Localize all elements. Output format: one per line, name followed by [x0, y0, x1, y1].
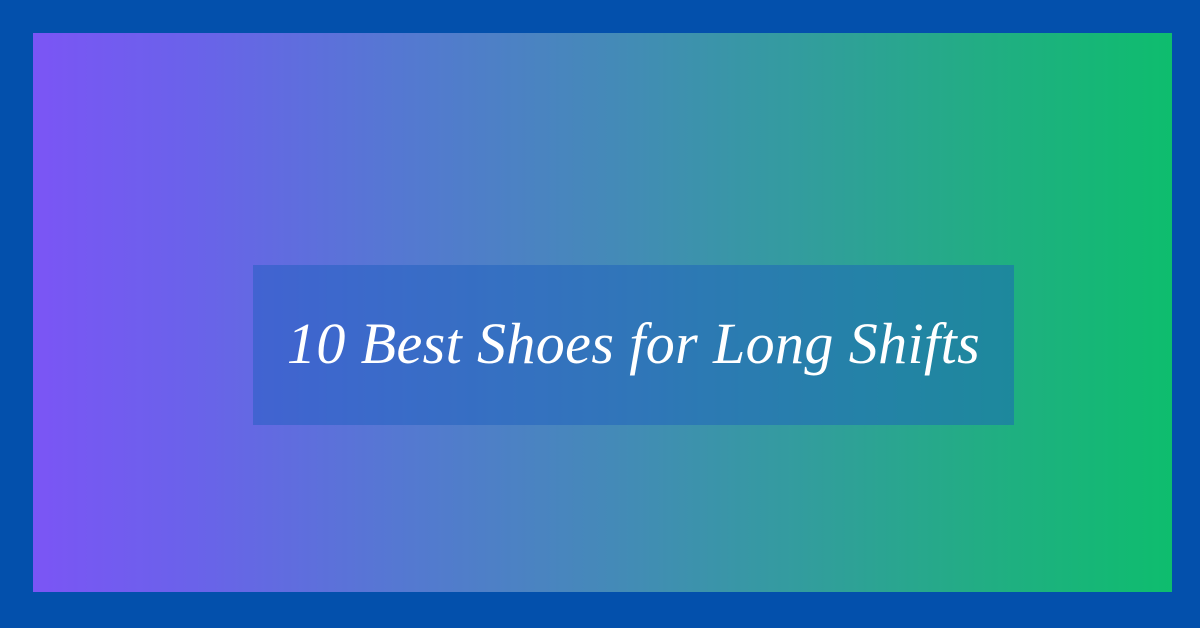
banner-title: 10 Best Shoes for Long Shifts [287, 315, 980, 373]
title-plate: 10 Best Shoes for Long Shifts [253, 265, 1014, 425]
banner-canvas: 10 Best Shoes for Long Shifts [0, 0, 1200, 628]
gradient-background: 10 Best Shoes for Long Shifts [33, 33, 1172, 592]
